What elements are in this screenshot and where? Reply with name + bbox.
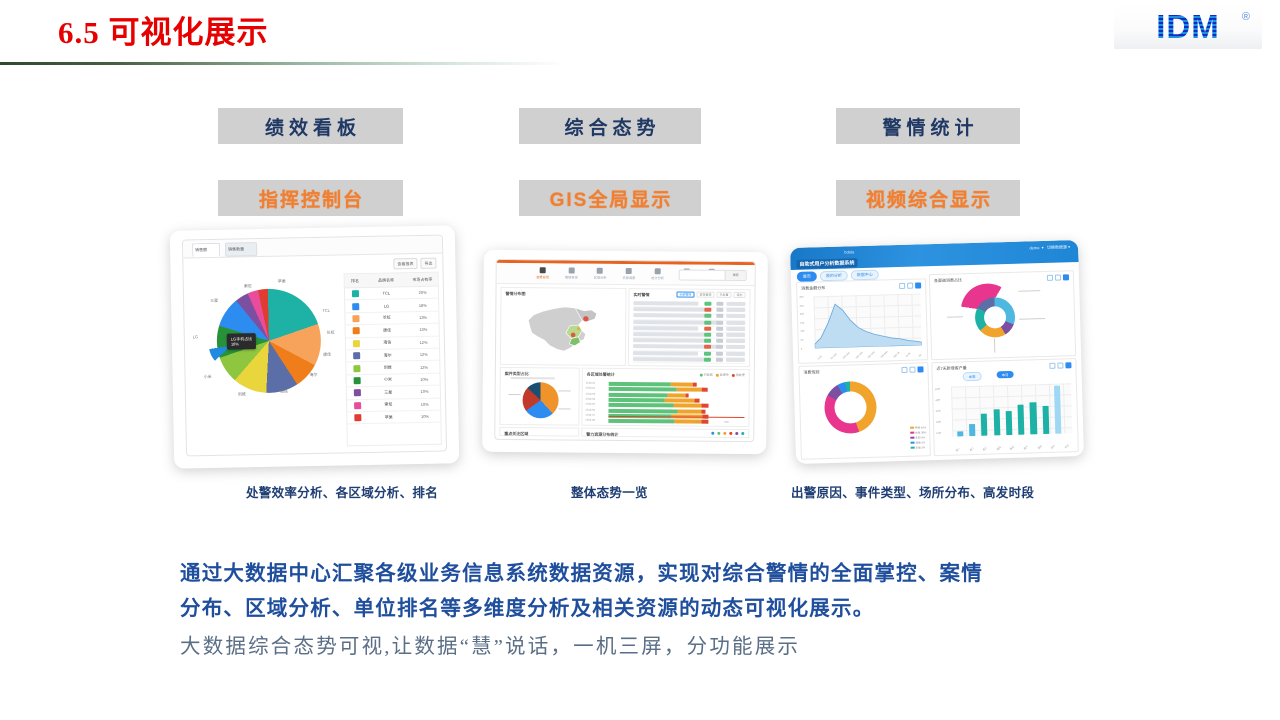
panel-case-type-pie: 案件类型占比 [499, 367, 580, 426]
bar-x-tick: 600 [695, 421, 699, 424]
paragraph-line-2: 分布、区域分析、单位排名等多维度分析及相关资源的动态可视化展示。 [180, 592, 1100, 627]
bar-x-tick: 0 [608, 420, 609, 423]
alarm-time [726, 314, 745, 318]
color-swatch-cell [347, 414, 368, 421]
dashboard3-frame: bdata demo ▾ 切换数据源 ▾ 自助式用户分析数据系统 首页我的分析数… [790, 240, 1084, 464]
screenshot-bi-dashboard[interactable]: bdata demo ▾ 切换数据源 ▾ 自助式用户分析数据系统 首页我的分析数… [790, 240, 1084, 464]
color-swatch [353, 340, 360, 347]
grid-icon[interactable] [1047, 275, 1053, 281]
caption-situation: 整体态势一览 [571, 482, 648, 501]
pie-label: 康佳 [323, 352, 331, 358]
pie-label: 三星 [210, 298, 218, 304]
refresh-icon[interactable] [907, 283, 913, 289]
bar3-y-tick: 50万 [935, 387, 940, 391]
card-gender-split: 消费性别 男性 45%女性 38%未知 9%其他 5%未填 3% [798, 362, 931, 460]
panel-title: 实时警情 [633, 292, 649, 298]
pie-leader-line [559, 390, 571, 391]
table-body: TCL20%LG18%长虹13%康佳13%海信12%海尔12%创维12%小米10… [345, 287, 441, 425]
nav-item[interactable]: 统计分析 [651, 268, 664, 280]
alarm-status-badge [704, 308, 712, 312]
dashboard1-frame: 销售额 销售数量 查看报表 导出 LG手机占比 18% TCL 长虹 [182, 235, 447, 457]
legend-label: 其他 5% [915, 440, 925, 444]
color-swatch [353, 352, 360, 359]
area-x-tick: 50-100 [830, 353, 837, 360]
alarm-text [633, 351, 698, 356]
alarm-level-badge [716, 351, 723, 355]
panel-alarm-map: 警情分布图 [500, 287, 627, 366]
color-swatch [352, 315, 359, 322]
bar-y-tick: 2019-06 [585, 408, 595, 411]
alarm-status-badge [704, 351, 712, 355]
search-button[interactable]: 搜索 [725, 271, 746, 280]
alarm-text [633, 326, 698, 331]
brand-cell: 康佳 [366, 327, 408, 334]
user-menu[interactable]: demo ▾ 切换数据源 ▾ [1029, 244, 1070, 251]
list-tab[interactable]: 全部警情 [676, 291, 694, 297]
caption-statistics: 出警原因、事件类型、场所分布、高发时段 [791, 482, 1034, 501]
card-new-customers: 近7天新增客户量 本周 本月 50万40万30万20万10万 周一周二周三周四周… [931, 358, 1079, 456]
bar-segment-done [609, 392, 668, 397]
nav-item[interactable]: 资源调度 [622, 268, 635, 280]
alarm-status-badge [704, 320, 712, 324]
bar-plot-grid [951, 383, 1072, 436]
color-swatch [353, 365, 360, 372]
bar-segment-progress [671, 382, 693, 386]
area-chart-path [813, 293, 921, 348]
bar-y-tick: 2019-07 [585, 413, 595, 416]
nav-item[interactable]: 态势总览 [536, 267, 549, 279]
bar3-x-tick: 周日 [1036, 444, 1042, 450]
area-x-tick: 0-50 [817, 355, 823, 360]
case-type-pie-slices [522, 382, 558, 418]
list-tab[interactable]: 已处置 [716, 292, 731, 298]
alarm-time [726, 351, 745, 355]
bar [1018, 405, 1025, 435]
fullscreen-icon[interactable] [915, 282, 921, 288]
alarm-time [726, 327, 745, 331]
brand-cell: 长虹 [366, 315, 408, 322]
share-cell: 12% [408, 339, 439, 345]
bar-segment-pending [701, 409, 705, 413]
refresh-icon[interactable] [1057, 362, 1063, 368]
color-swatch-cell [345, 315, 366, 322]
alarm-level-badge [716, 320, 723, 324]
nav-label: 警情查询 [565, 274, 578, 279]
pie-label: 长虹 [327, 330, 335, 336]
bar-plot-area: 2019-012019-022019-032019-042019-052019-… [583, 369, 749, 370]
bar-segment-pending [685, 393, 689, 397]
nav-icon [568, 268, 574, 274]
legend-item [723, 432, 726, 435]
gender-legend: 男性 45%女性 38%未知 9%其他 5%未填 3% [910, 425, 927, 449]
alarm-text [633, 313, 711, 318]
paragraph-line-1: 通过大数据中心汇聚各级业务信息系统数据资源，实现对综合警情的全面掌控、案情 [180, 557, 1100, 592]
china-map-icon [519, 300, 610, 359]
paragraph-line-3: 大数据综合态势可视,让数据“慧”说话，一机三屏，分功能展示 [180, 630, 1100, 664]
bar-y-tick: 2019-02 [586, 387, 596, 390]
bar3-x-tick: 周二 [968, 446, 974, 452]
stacked-bar-row [609, 382, 727, 387]
legend-item: 男性 45% [910, 425, 926, 429]
bar-segment-done [609, 382, 671, 387]
card-spend-distribution: 消费金额分布 300250200150100500 0-5050-100100-… [796, 278, 928, 364]
brand-cell: 创维 [367, 364, 409, 371]
list-tab[interactable]: 紧急警情 [696, 292, 714, 298]
alarm-time [726, 308, 745, 312]
bar3-x-tick: 周四 [996, 445, 1002, 451]
tag-alarm-statistics[interactable]: 警情统计 [836, 108, 1020, 144]
bar-x-tick: 400 [666, 420, 670, 423]
pie-label: 创维 [238, 391, 246, 397]
card-actions[interactable] [899, 282, 921, 289]
bar-segment-done [609, 403, 674, 408]
legend-dot [700, 373, 703, 376]
color-swatch [352, 327, 359, 334]
alarm-level-badge [716, 358, 723, 362]
alarm-level-badge [716, 339, 723, 343]
legend-swatch [910, 426, 914, 429]
pie-label: 苹果 [278, 279, 286, 285]
bar3-x-tick: 周一 [955, 446, 961, 452]
tag-gis-global-display[interactable]: GIS全局显示 [519, 180, 701, 216]
legend-label: 未知 9% [915, 435, 925, 439]
leader-line [1018, 290, 1040, 291]
summary-paragraph: 通过大数据中心汇聚各级业务信息系统数据资源，实现对综合警情的全面掌控、案情 分布… [180, 557, 1100, 664]
bar-segment-done [609, 398, 665, 402]
alarm-level-badge [716, 327, 723, 331]
dashboard3-logo: 自助式用户分析数据系统 [796, 258, 857, 269]
alarm-level-badge [716, 345, 723, 349]
bar-x-ticks: 0200400600800 [583, 369, 749, 370]
tag-command-console[interactable]: 指挥控制台 [218, 180, 403, 216]
alarm-row[interactable] [633, 357, 745, 364]
color-swatch-cell [345, 303, 366, 310]
share-cell: 13% [408, 315, 439, 321]
bar-y-tick: 2019-04 [586, 398, 596, 401]
alarm-level-badge [716, 302, 723, 306]
alarm-status-badge [704, 302, 712, 306]
bar-segment-done [609, 387, 677, 392]
refresh-icon[interactable] [1055, 275, 1061, 281]
brand-cell: 三星 [367, 389, 409, 396]
brand-cell: 苹果 [368, 414, 410, 421]
dashboard1-ranking-table: 排名 品牌名称 市场占有率 TCL20%LG18%长虹13%康佳13%海信12%… [344, 272, 442, 447]
alarm-level-badge [716, 333, 723, 337]
alarm-text [633, 332, 705, 337]
area-plot-grid [813, 293, 921, 348]
legend-item: 处理中 [716, 373, 729, 377]
bar [981, 414, 988, 436]
bar-y-tick: 2019-01 [586, 382, 596, 385]
share-cell: 18% [407, 302, 438, 308]
share-cell: 10% [410, 414, 441, 420]
pie-tooltip: LG手机占比 18% [227, 333, 257, 350]
color-swatch-cell [346, 327, 367, 334]
bar-y-tick: 2019-05 [586, 403, 596, 406]
legend-item [711, 432, 714, 435]
bar [1030, 402, 1037, 434]
leader-line [994, 339, 995, 353]
panel-title: 各区域处警统计 [587, 372, 615, 378]
pie-label: 索尼 [244, 283, 252, 289]
alarm-status-badge [704, 345, 712, 349]
panel-title: 警力资源分布统计 [586, 432, 618, 438]
dashboard2-search-input[interactable]: 搜索 [679, 269, 747, 281]
fullscreen-icon[interactable] [917, 366, 923, 372]
nav-icon [626, 268, 632, 274]
stacked-bar-row [609, 392, 727, 397]
brand-cell: LG [366, 303, 408, 309]
card-title: 近7天新增客户量 [936, 365, 966, 372]
bar-y-tick: 2019-08 [585, 419, 595, 422]
alarm-list-rows [630, 289, 750, 290]
caption-performance: 处警效率分析、各区域分析、排名 [246, 482, 438, 501]
nav-item[interactable]: 警情查询 [565, 267, 578, 279]
alarm-status-badge [703, 357, 711, 361]
color-swatch-cell [347, 377, 368, 384]
brand-label: bdata [844, 249, 854, 254]
color-swatch [352, 303, 359, 310]
card-actions[interactable] [1049, 362, 1071, 369]
color-swatch [353, 377, 360, 384]
bar-segment-progress [676, 388, 701, 392]
legend-item: 未知 9% [910, 435, 926, 439]
color-swatch [354, 402, 361, 409]
stacked-bar-row [609, 398, 727, 403]
export-button[interactable]: 导出 [420, 258, 436, 269]
brand-cell: 索尼 [368, 401, 410, 408]
bar3-y-tick: 30万 [936, 409, 941, 413]
view-report-button[interactable]: 查看报表 [393, 258, 417, 269]
tab-label: 销售数量 [228, 244, 244, 254]
tag-label: 警情统计 [877, 113, 978, 140]
bar [1042, 406, 1049, 434]
idm-logo: IDM ® [1114, 5, 1262, 49]
area-x-tick: 2k+ [918, 353, 923, 358]
legend-swatch [910, 436, 914, 439]
nav-label: 区域分析 [594, 275, 607, 280]
alarm-time [726, 358, 745, 362]
pie-leader-line [558, 408, 570, 409]
area-x-tick: 300-500 [868, 351, 876, 359]
share-cell: 12% [408, 352, 439, 358]
pie-leader-line [509, 394, 521, 395]
tooltip-line2: 18% [231, 341, 252, 346]
legend-item: 女性 38% [910, 430, 926, 434]
alarm-status-badge [704, 339, 712, 343]
share-cell: 10% [409, 389, 440, 395]
page-title: 6.5 可视化展示 [58, 7, 269, 52]
alarm-time [726, 333, 745, 337]
brand-cell: 海信 [366, 339, 408, 346]
period-week-button[interactable]: 本周 [963, 372, 982, 382]
alarm-level-badge [716, 308, 723, 312]
legend-label: 处理中 [720, 373, 729, 377]
bar-x-tick: 800 [724, 421, 728, 424]
list-tab[interactable]: 待办 [733, 292, 745, 298]
bar3-x-tick: 合计 [1050, 444, 1056, 450]
grid-icon[interactable] [899, 283, 905, 289]
col-share: 市场占有率 [407, 276, 438, 283]
alarm-text [633, 357, 705, 362]
logo-text: IDM [1156, 8, 1220, 46]
dashboard2-frame: 态势总览警情查询区域分析资源调度统计分析系统设置帮助 搜索 警情分布图 [494, 259, 756, 442]
area-x-tick: 500-800 [880, 351, 888, 359]
share-cell: 10% [409, 401, 440, 407]
bar [957, 431, 963, 436]
nav-icon [540, 267, 546, 273]
alarm-time [726, 339, 745, 343]
panel-region-alarm-bar: 各区域处警统计 已处结处理中待处理 2019-012019-022019-032… [581, 368, 749, 427]
pie-label: TCL [322, 308, 330, 313]
bar3-x-tick: 环比 [1063, 443, 1069, 449]
title-divider [0, 62, 566, 65]
nav-label: 统计分析 [651, 275, 664, 280]
area-x-tick: 1k-2k [905, 352, 911, 358]
nav-item[interactable]: 区域分析 [594, 268, 607, 280]
tab-label: 销售额 [195, 245, 207, 255]
bar-segment-progress [673, 404, 701, 408]
dashboard1-pie-chart: LG手机占比 18% TCL 长虹 康佳 海尔 海信 创维 小米 LG 三星 索… [190, 271, 345, 434]
pie-label: 海信 [280, 389, 288, 395]
color-swatch-cell [346, 365, 367, 372]
bar3-y-tick: 40万 [935, 398, 940, 402]
panel-key-regions: 重点关注区域 [499, 427, 579, 437]
refresh-icon[interactable] [909, 367, 915, 373]
alarm-time [726, 345, 745, 349]
tag-label: 绩效看板 [260, 113, 361, 140]
share-cell: 10% [409, 377, 440, 383]
fullscreen-icon[interactable] [1063, 274, 1069, 280]
panel-title: 警情分布图 [505, 291, 525, 297]
screenshot-performance-dashboard[interactable]: 销售额 销售数量 查看报表 导出 LG手机占比 18% TCL 长虹 [170, 225, 460, 468]
bar-x-tick: 200 [637, 420, 641, 423]
legend-item [729, 432, 732, 435]
legend-label: 已处结 [704, 373, 713, 377]
bar-series [951, 383, 1072, 436]
bar-segment-progress [678, 409, 702, 413]
share-cell: 13% [408, 327, 439, 333]
bar [993, 409, 1000, 435]
legend-item [735, 432, 738, 435]
bar3-x-tick: 周五 [1009, 445, 1015, 451]
nav-icon [655, 268, 661, 274]
legend-swatch [910, 431, 914, 434]
bar3-y-tick: 20万 [936, 420, 941, 424]
leader-line [1019, 318, 1045, 319]
brand-cell: 海尔 [367, 352, 409, 359]
dashboard3-tab[interactable]: 首页 [797, 271, 817, 282]
card-channel-share: 各渠道消费占比 [929, 270, 1076, 360]
alarm-status-badge [704, 314, 712, 318]
alarm-time [726, 302, 745, 306]
legend-item [741, 432, 744, 435]
area-y-tick: 200 [800, 313, 804, 316]
col-brand: 品牌名称 [365, 277, 407, 284]
period-month-button[interactable]: 本月 [997, 371, 1014, 378]
share-cell: 12% [409, 364, 440, 370]
table-row[interactable]: 苹果10% [347, 411, 440, 425]
legend-item: 未填 3% [910, 445, 926, 449]
stacked-bar-row [609, 387, 727, 392]
area-x-tick: 800-1k [893, 351, 900, 358]
tag-label: 指挥控制台 [257, 185, 364, 212]
card-title: 各渠道消费占比 [934, 277, 962, 284]
leader-line [947, 316, 963, 317]
alarm-text [633, 307, 705, 312]
alarm-status-badge [704, 333, 712, 337]
card-title: 消费性别 [803, 369, 819, 375]
alarm-level-badge [716, 314, 723, 318]
bar3-x-tick: 周三 [982, 445, 988, 451]
alarm-text [633, 301, 698, 306]
legend-label: 女性 38% [915, 430, 926, 434]
card-title: 消费金额分布 [801, 285, 825, 292]
area-y-tick: 300 [799, 296, 803, 299]
panel-realtime-alarms: 实时警情 全部警情紧急警情已处置待办 [628, 288, 751, 367]
color-swatch-cell [347, 389, 368, 396]
tag-video-composite-display[interactable]: 视频综合显示 [836, 180, 1020, 216]
registered-trademark-icon: ® [1242, 11, 1250, 23]
bar-y-tick: 2019-03 [586, 392, 596, 395]
area-y-tick: 250 [800, 304, 804, 307]
grid-icon[interactable] [1049, 363, 1055, 369]
fullscreen-icon[interactable] [1065, 362, 1071, 368]
tag-label: GIS全局显示 [548, 185, 673, 212]
area-y-tick: 150 [800, 321, 804, 324]
card-actions[interactable] [1047, 274, 1069, 281]
grid-icon[interactable] [901, 367, 907, 373]
bar-segment-pending [702, 388, 708, 392]
area-x-tick: 100-200 [842, 352, 850, 360]
area-y-tick: 50 [801, 339, 804, 342]
tag-performance-board[interactable]: 绩效看板 [218, 108, 403, 144]
alarm-status-badge [704, 326, 712, 330]
tag-comprehensive-situation[interactable]: 综合态势 [519, 108, 701, 144]
datasource-switch-label: 切换数据源 [1047, 244, 1067, 250]
stacked-bar-row [609, 403, 727, 408]
col-rank: 排名 [345, 278, 366, 284]
dashboard1-tab-sales-amount[interactable]: 销售额 [192, 243, 220, 258]
card-actions[interactable] [901, 366, 923, 373]
bar3-y-tick: 10万 [936, 431, 941, 435]
legend-label: 未填 3% [915, 445, 925, 449]
pie-label: LG [193, 334, 198, 339]
legend-item: 其他 5% [910, 440, 926, 444]
stacked-bar-row [608, 408, 726, 413]
nav-label: 资源调度 [622, 275, 635, 280]
legend-item: 已处结 [700, 373, 713, 377]
color-swatch-cell [345, 290, 366, 297]
legend-label: 待处理 [736, 373, 745, 377]
dashboard1-tab-sales-count[interactable]: 销售数量 [225, 242, 257, 257]
bar-segment-pending [693, 383, 697, 387]
tag-label: 综合态势 [559, 113, 660, 140]
legend-item: 待处理 [732, 373, 745, 377]
alarm-list-tabs[interactable]: 全部警情紧急警情已处置待办 [676, 291, 745, 298]
pie-label: 小米 [204, 374, 212, 380]
color-swatch-cell [346, 340, 367, 347]
color-swatch [352, 290, 359, 297]
dashboard1-toolbar: 查看报表 导出 [393, 258, 436, 270]
alarm-time [726, 320, 745, 324]
panel-title: 重点关注区域 [504, 431, 528, 437]
legend-item [717, 432, 720, 435]
bar [1006, 411, 1013, 435]
pie-label: 海尔 [309, 372, 317, 378]
screenshot-gis-dashboard[interactable]: 态势总览警情查询区域分析资源调度统计分析系统设置帮助 搜索 警情分布图 [482, 250, 768, 454]
area-y-tick: 0 [801, 347, 802, 350]
